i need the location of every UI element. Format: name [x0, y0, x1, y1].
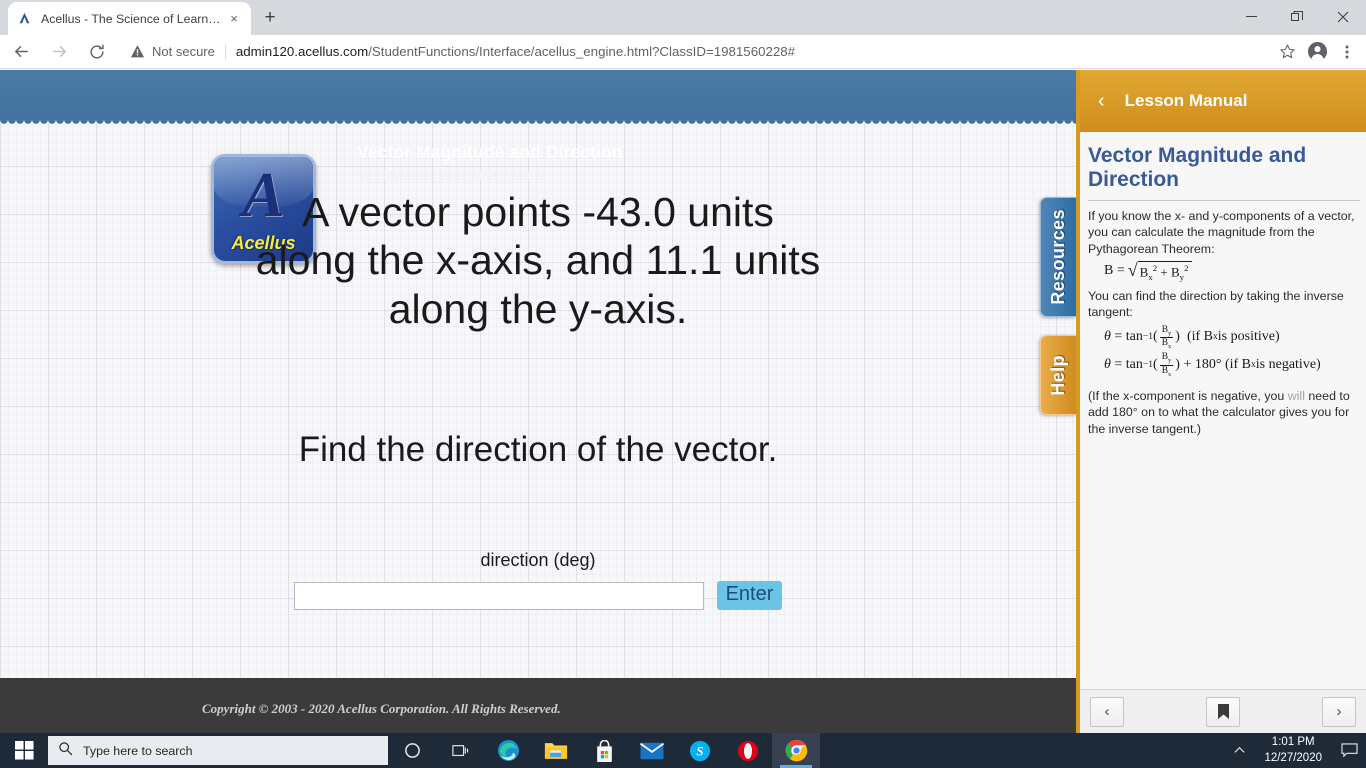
search-placeholder: Type here to search [83, 744, 193, 758]
taskbar-clock[interactable]: 1:01 PM 12/27/2020 [1254, 735, 1332, 766]
lesson-title: Vector Magnitude and Direction [357, 142, 623, 163]
magnitude-formula: B = √ Bx2 + By2 [1104, 261, 1360, 282]
lesson-main-area: A Acellus Vector Magnitude and Direction… [0, 70, 1076, 733]
tab-title: Acellus - The Science of Learning [41, 12, 221, 26]
fraction-by-bx: By Bx [1160, 325, 1174, 351]
manual-next-button[interactable]: › [1322, 697, 1356, 727]
browser-toolbar: Not secure admin120.acellus.com/StudentF… [0, 35, 1366, 69]
question-line-2: along the x-axis, and 11.1 units [110, 236, 966, 284]
toolbar-icons [1272, 37, 1366, 67]
resources-tab-label: Resources [1048, 209, 1069, 305]
copyright-text: Copyright © 2003 - 2020 Acellus Corporat… [202, 701, 561, 717]
lesson-manual-panel: ‹ Lesson Manual Vector Magnitude and Dir… [1076, 70, 1366, 733]
url-path: /StudentFunctions/Interface/acellus_engi… [368, 44, 795, 59]
tab-strip: Acellus - The Science of Learning × + [0, 0, 1366, 35]
lesson-subtitle: Vectors and 2-D Kinematics [357, 167, 542, 184]
cortana-button[interactable] [388, 733, 436, 768]
clock-time: 1:01 PM [1264, 735, 1322, 751]
taskbar-app-google-chrome[interactable] [772, 733, 820, 768]
address-bar[interactable]: Not secure admin120.acellus.com/StudentF… [120, 38, 1264, 66]
forward-button-icon[interactable] [42, 37, 76, 67]
omnibox-divider [225, 44, 226, 60]
direction-formula-block: θ = tan−1 ( By Bx ) (if Bx is positive) … [1092, 325, 1360, 378]
new-tab-button[interactable]: + [256, 4, 284, 32]
header-scallop-edge [0, 120, 1076, 128]
page-content: A Acellus Vector Magnitude and Direction… [0, 70, 1366, 733]
lesson-header-bar [0, 70, 1076, 120]
tray-expand-chevron-icon[interactable] [1224, 733, 1254, 768]
chrome-menu-icon[interactable] [1332, 37, 1362, 67]
magnitude-lhs: B = [1104, 263, 1125, 279]
lesson-manual-title: Lesson Manual [1125, 91, 1248, 111]
chrome-browser-window: Acellus - The Science of Learning × + [0, 0, 1366, 733]
direction-formula-positive: θ = tan−1 ( By Bx ) (if Bx is positive) [1104, 325, 1360, 351]
clock-date: 12/27/2020 [1264, 751, 1322, 767]
task-view-button[interactable] [436, 733, 484, 768]
answer-row: Enter [0, 581, 1076, 610]
taskbar-app-skype[interactable]: S [676, 733, 724, 768]
url-host: admin120.acellus.com [236, 44, 368, 59]
manual-topic-title: Vector Magnitude and Direction [1088, 144, 1360, 201]
direction-formula-negative: θ = tan−1 ( By Bx ) + 180° (if Bx is neg… [1104, 352, 1360, 378]
taskbar-app-opera[interactable] [724, 733, 772, 768]
windows-taskbar: Type here to search [0, 733, 1366, 768]
question-text: A vector points -43.0 units along the x-… [110, 188, 966, 333]
magnitude-formula-block: B = √ Bx2 + By2 [1092, 261, 1360, 282]
square-root-icon: √ Bx2 + By2 [1128, 261, 1192, 282]
minimize-button[interactable] [1228, 0, 1274, 33]
fraction-by-bx-2: By Bx [1160, 352, 1174, 378]
resources-tab[interactable]: Resources [1040, 197, 1076, 317]
taskbar-app-mail[interactable] [628, 733, 676, 768]
browser-tab[interactable]: Acellus - The Science of Learning × [8, 2, 251, 35]
not-secure-warning-icon [130, 44, 145, 59]
windows-start-button[interactable] [0, 733, 48, 768]
answer-block: direction (deg) Enter [0, 550, 1076, 610]
manual-paragraph-3: (If the x-component is negative, you wil… [1088, 388, 1360, 437]
lesson-footer: Copyright © 2003 - 2020 Acellus Corporat… [0, 678, 1076, 733]
help-tab-label: Help [1048, 355, 1069, 396]
security-label: Not secure [152, 44, 215, 59]
profile-avatar-icon[interactable] [1302, 37, 1332, 67]
question-line-3: along the y-axis. [110, 285, 966, 333]
search-icon [58, 741, 73, 761]
manual-paragraph-2: You can find the direction by taking the… [1088, 288, 1360, 321]
lesson-manual-body: Vector Magnitude and Direction If you kn… [1080, 132, 1366, 437]
url-text: admin120.acellus.com/StudentFunctions/In… [236, 44, 795, 59]
help-tab[interactable]: Help [1040, 335, 1076, 415]
back-chevron-icon[interactable]: ‹ [1098, 91, 1105, 111]
taskbar-app-microsoft-store[interactable] [580, 733, 628, 768]
svg-text:S: S [696, 744, 703, 758]
action-center-icon[interactable] [1332, 733, 1366, 768]
lesson-manual-header: ‹ Lesson Manual [1080, 70, 1366, 132]
close-button[interactable] [1320, 0, 1366, 33]
tab-close-icon[interactable]: × [225, 10, 243, 28]
manual-paragraph-1: If you know the x- and y-components of a… [1088, 208, 1360, 257]
security-indicator[interactable]: Not secure [130, 44, 215, 59]
acellus-favicon-icon [16, 10, 33, 27]
manual-nav-bar: ‹ › [1080, 689, 1366, 733]
answer-label: direction (deg) [0, 550, 1076, 571]
bookmark-star-icon[interactable] [1272, 37, 1302, 67]
taskbar-app-file-explorer[interactable] [532, 733, 580, 768]
manual-prev-button[interactable]: ‹ [1090, 697, 1124, 727]
taskbar-app-microsoft-edge[interactable] [484, 733, 532, 768]
taskbar-search-box[interactable]: Type here to search [48, 736, 388, 765]
window-controls [1228, 0, 1366, 33]
manual-bookmark-button[interactable] [1206, 697, 1240, 727]
restore-button[interactable] [1274, 0, 1320, 33]
answer-input[interactable] [294, 582, 704, 610]
reload-button-icon[interactable] [80, 37, 114, 67]
question-line-1: A vector points -43.0 units [110, 188, 966, 236]
enter-button[interactable]: Enter [717, 581, 783, 610]
system-tray: 1:01 PM 12/27/2020 [1224, 733, 1366, 768]
question-prompt: Find the direction of the vector. [110, 430, 966, 470]
back-button-icon[interactable] [4, 37, 38, 67]
